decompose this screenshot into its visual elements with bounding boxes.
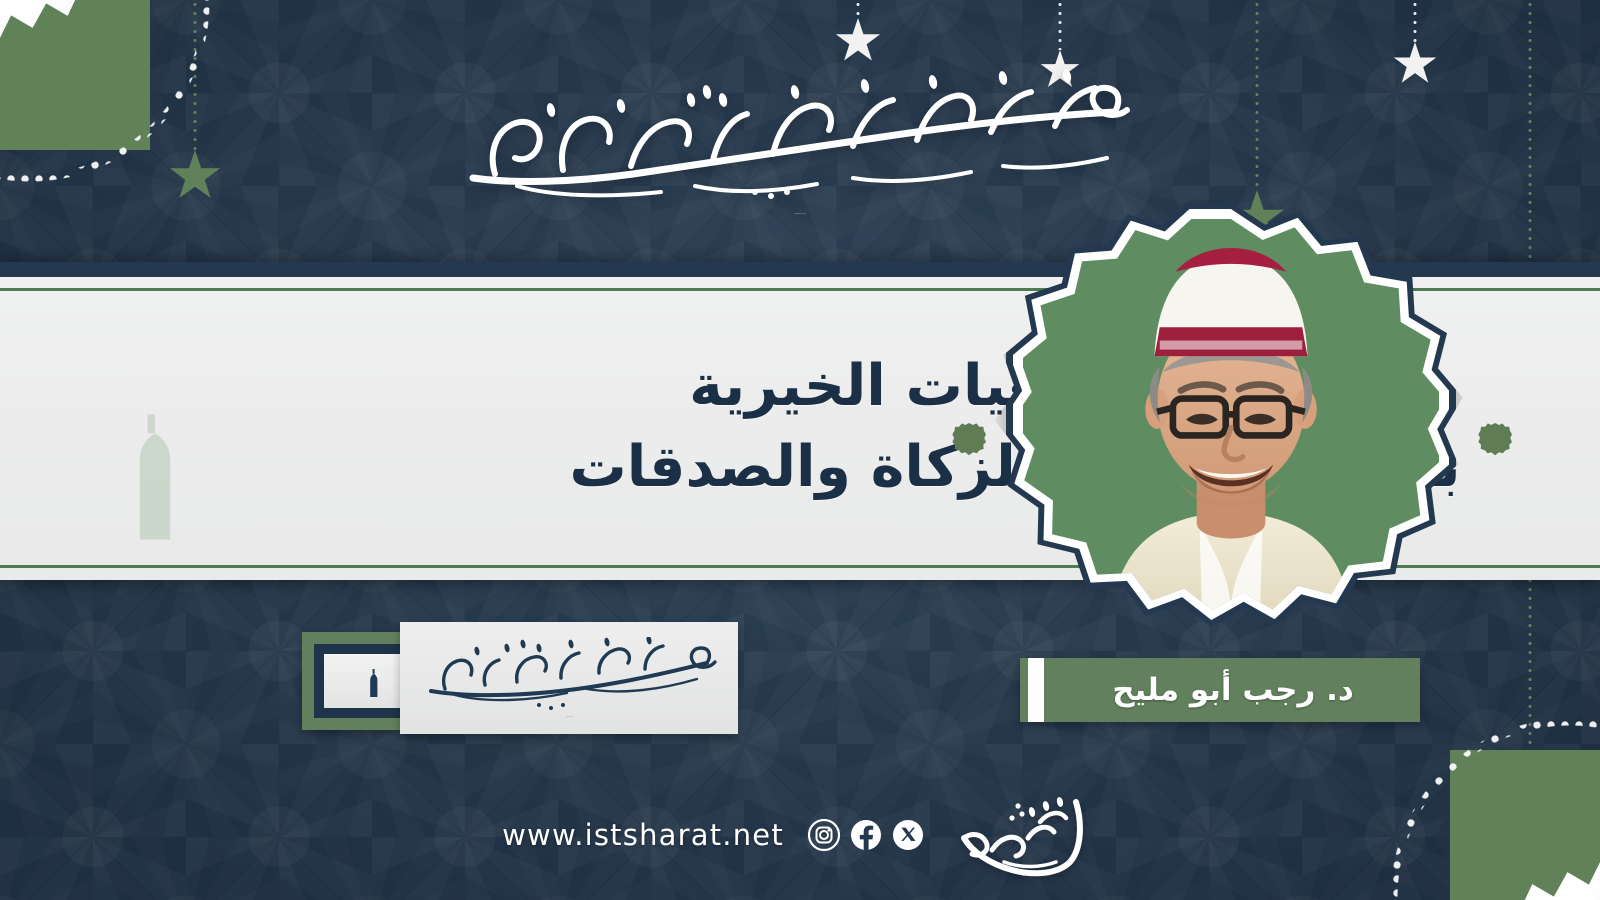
star-string	[857, 0, 860, 18]
speaker-name: د. رجب أبو مليح	[1086, 672, 1354, 708]
scholar-portrait-frame	[1006, 202, 1456, 632]
consultations-badge: استشارات فقهية	[302, 622, 738, 740]
star-string	[1059, 0, 1062, 50]
consult-calligraphy-text: استشارات فقهية	[565, 716, 573, 718]
footer-bar: المجتمع www.istsharat.net	[0, 790, 1600, 880]
jurisprudential-consultations-calligraphy: استشارات فقهية	[419, 637, 719, 719]
speaker-name-badge: د. رجب أبو مليح	[1020, 658, 1420, 722]
name-badge-white-bar	[1028, 658, 1044, 722]
website-url[interactable]: www.istsharat.net	[502, 818, 784, 852]
header-calligraphy-text: بوابة الاستشارات الإلكترونية	[794, 213, 807, 215]
star-string	[1414, 0, 1417, 42]
almujtama-brand-calligraphy: المجتمع	[948, 792, 1098, 878]
facebook-icon[interactable]	[850, 819, 882, 851]
instagram-icon[interactable]	[808, 819, 840, 851]
banner-stage: بوابة الاستشارات الإلكترونية التزام الجم…	[0, 0, 1600, 900]
mosque-crescent-icon	[345, 661, 389, 701]
social-icons-group	[808, 819, 924, 851]
x-twitter-icon[interactable]	[892, 819, 924, 851]
consult-calligraphy-panel: استشارات فقهية	[400, 622, 738, 734]
hanging-star-white-mid	[835, 0, 881, 64]
consult-icon-box	[324, 654, 410, 708]
header-calligraphy: بوابة الاستشارات الإلكترونية	[0, 58, 1600, 223]
